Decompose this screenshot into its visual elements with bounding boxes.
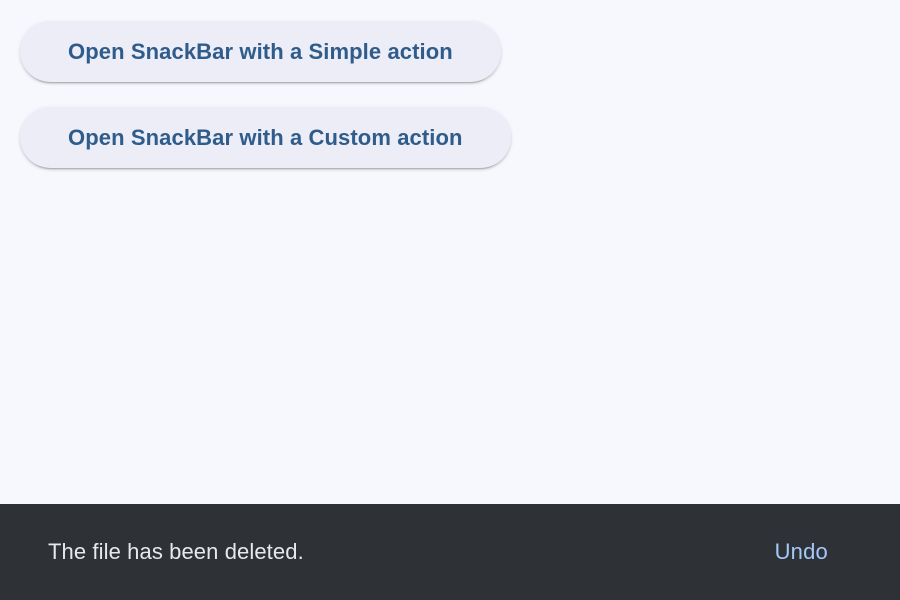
open-snackbar-simple-action-button[interactable]: Open SnackBar with a Simple action — [20, 21, 501, 82]
app-content-surface: Open SnackBar with a Simple action Open … — [0, 0, 900, 504]
open-snackbar-custom-action-label: Open SnackBar with a Custom action — [68, 127, 463, 149]
open-snackbar-simple-action-label: Open SnackBar with a Simple action — [68, 41, 453, 63]
snackbar-message: The file has been deleted. — [48, 539, 304, 565]
open-snackbar-custom-action-button[interactable]: Open SnackBar with a Custom action — [20, 107, 511, 168]
snackbar: The file has been deleted. Undo — [0, 504, 900, 600]
snackbar-undo-button[interactable]: Undo — [773, 535, 830, 569]
button-stack: Open SnackBar with a Simple action Open … — [20, 21, 511, 168]
